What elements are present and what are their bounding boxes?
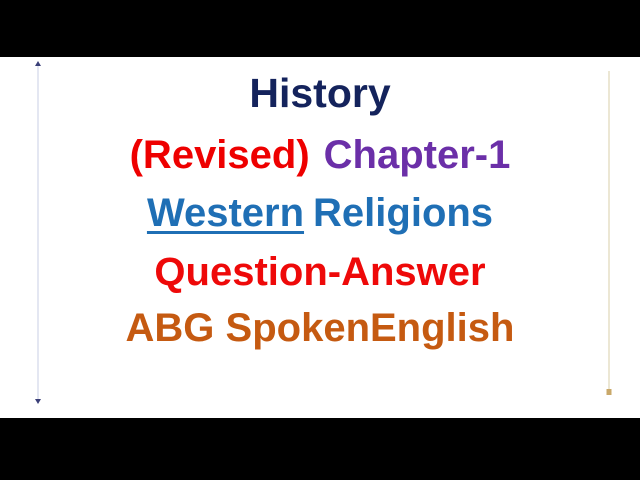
subject-title: History (0, 68, 640, 118)
channel-label: ABG SpokenEnglish (0, 304, 640, 352)
letterbox-top (0, 0, 640, 57)
revised-label: (Revised) (130, 133, 310, 177)
chapter-label: Chapter-1 (324, 133, 511, 177)
topic-religions-label: Religions (313, 191, 493, 235)
topic-western-label: Western (147, 191, 304, 235)
title-block: History (Revised)Chapter-1 WesternReligi… (0, 57, 640, 418)
chapter-line: (Revised)Chapter-1 (0, 131, 640, 179)
format-label: Question-Answer (0, 248, 640, 296)
video-frame: History (Revised)Chapter-1 WesternReligi… (0, 0, 640, 480)
letterbox-bottom (0, 418, 640, 480)
topic-line: WesternReligions (0, 189, 640, 237)
